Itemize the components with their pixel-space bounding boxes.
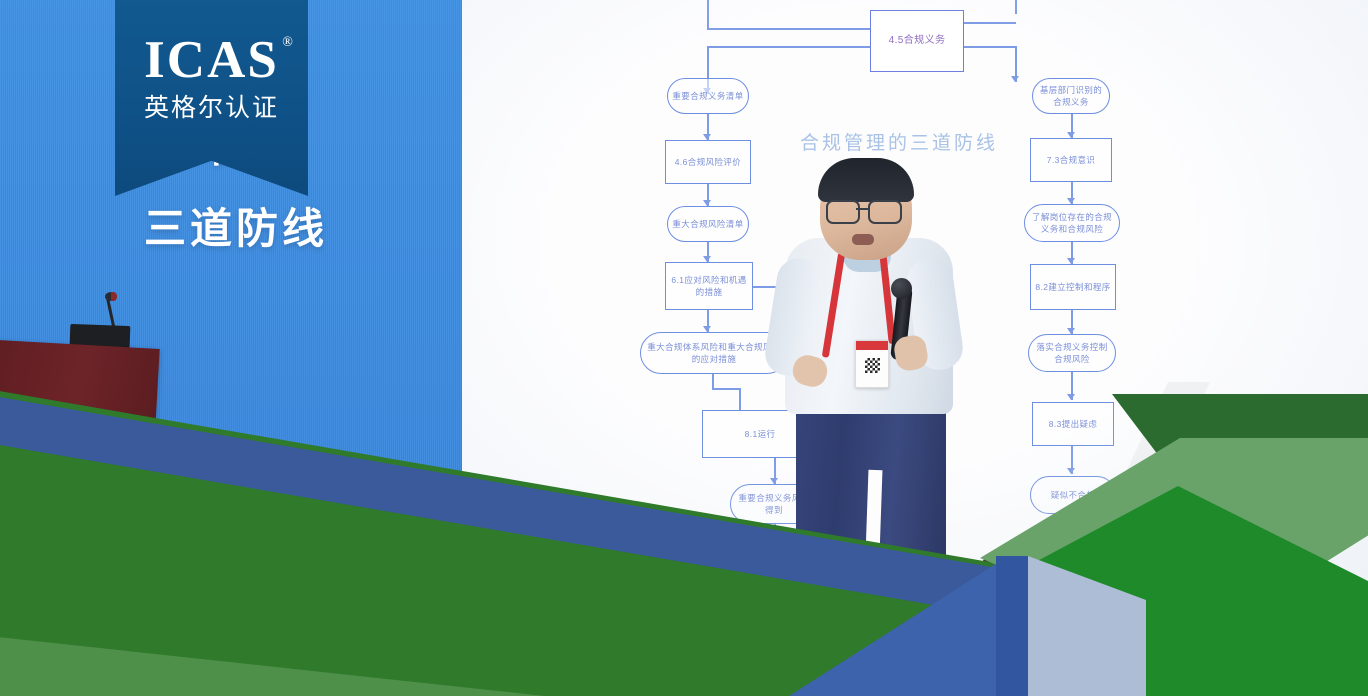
icas-wordmark: ICAS® (144, 34, 279, 87)
speaker-hair (818, 158, 914, 202)
icas-chinese-name: 英格尔认证 (115, 95, 308, 123)
glasses-bridge-icon (856, 208, 868, 210)
speaker-badge (855, 340, 889, 388)
glasses-right-lens-icon (868, 200, 902, 224)
podium-microphone-head-icon (105, 292, 117, 301)
speaker-mouth (852, 234, 874, 245)
backdrop-headline-line2: 三道防线 (0, 208, 472, 250)
conference-photo: 的 三道防线 ICAS® 英格尔认证 4.5合规义务 重要合规义务清单 4.6合… (0, 0, 1368, 696)
glasses-left-lens-icon (826, 200, 860, 224)
registered-trademark-icon: ® (282, 36, 295, 50)
badge-header (856, 341, 888, 350)
overlay-blue-dark-strip (996, 556, 1028, 696)
icas-wordmark-text: ICAS (144, 31, 279, 89)
qr-code-icon (865, 358, 880, 373)
handheld-microphone-head-icon (891, 278, 912, 299)
icas-logo-content: ICAS® 英格尔认证 (115, 34, 308, 123)
